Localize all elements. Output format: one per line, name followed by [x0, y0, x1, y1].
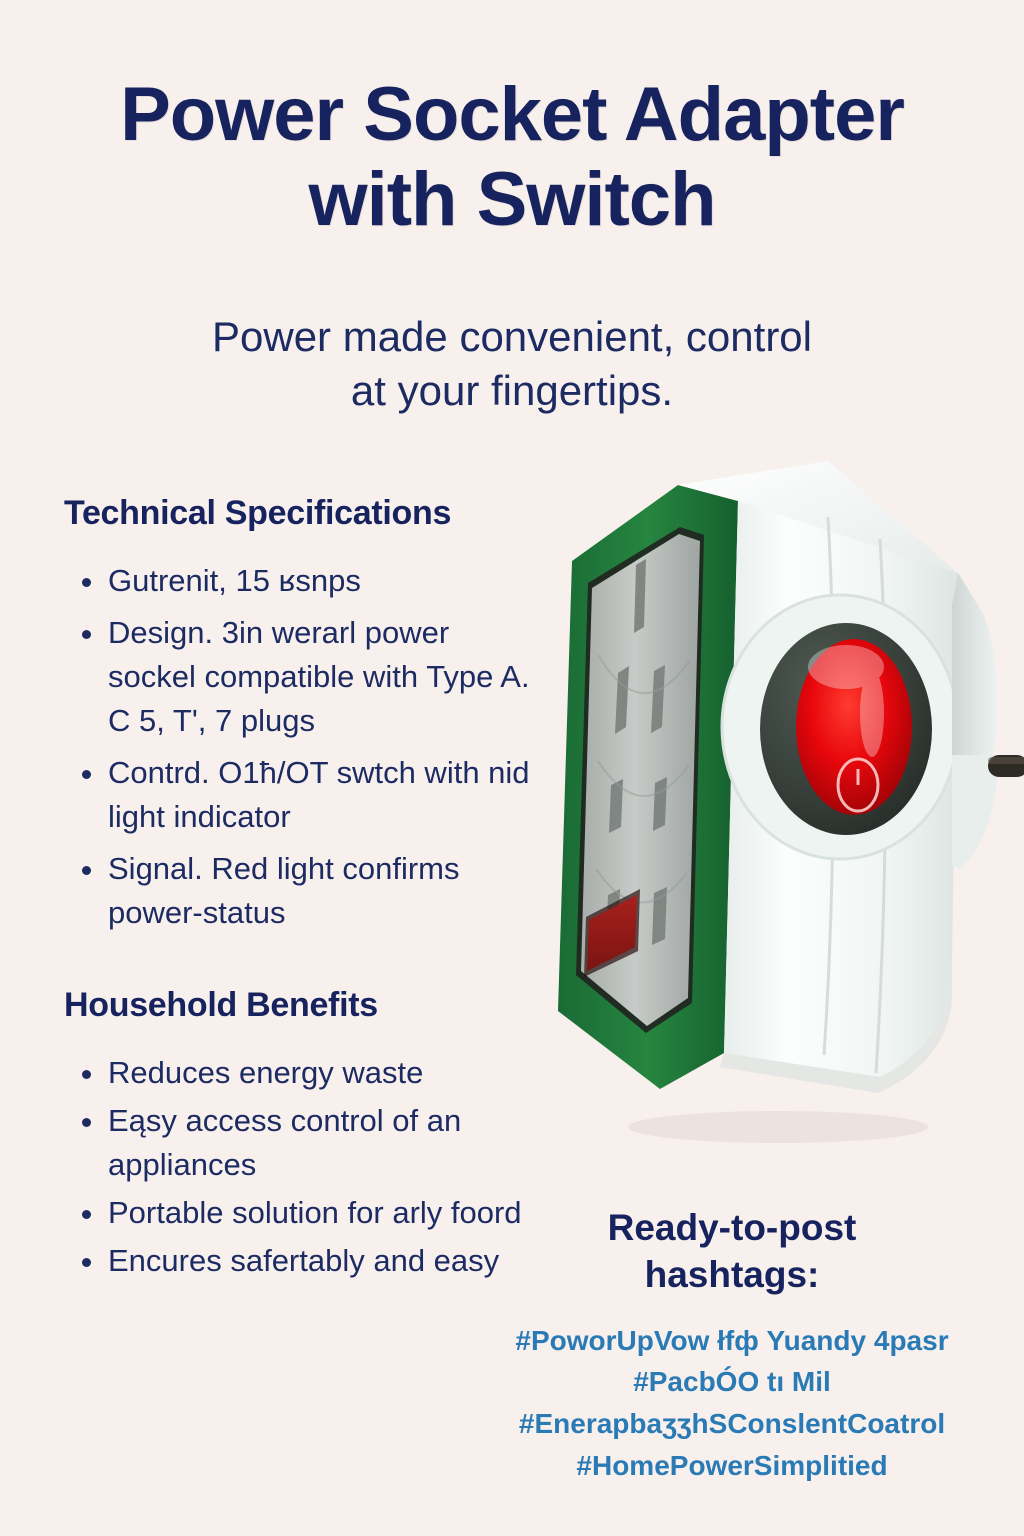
page-subtitle-line1: Power made convenient, control [0, 310, 1024, 364]
list-item-label: Encures safertably and easy [108, 1243, 499, 1278]
list-item-label: Eąsy access control of an appliances [108, 1103, 461, 1182]
bullet-icon [82, 1258, 91, 1267]
hashtags-heading-colon: : [807, 1254, 819, 1295]
page-title-line2: with Switch [0, 157, 1024, 242]
hashtag-item[interactable]: #PoworUpVow łfф Yuandy 4pasr [462, 1321, 1002, 1361]
power-socket-adapter-illustration [528, 455, 1024, 1155]
hashtags-heading-line2: hashtags: [462, 1251, 1002, 1298]
page-title-line1: Power Socket Adapter [0, 72, 1024, 157]
hashtag-item[interactable]: #PacbÓO tı Mil [462, 1362, 1002, 1402]
hashtags-heading-word: hashtags [645, 1254, 807, 1295]
list-item-label: Design. 3in werarl power sockel compatib… [108, 615, 530, 738]
list-item: Design. 3in werarl power sockel compatib… [64, 611, 534, 743]
bullet-icon [82, 578, 91, 587]
product-shadow [628, 1111, 928, 1143]
product-image [528, 455, 1024, 1155]
list-item-label: Signal. Red light confirms power-status [108, 851, 460, 930]
hashtags-heading-line1: Ready-to-post [462, 1204, 1002, 1251]
bullet-icon [82, 630, 91, 639]
plug-shoulder [952, 573, 997, 755]
plug-pin-highlight [988, 757, 1024, 764]
list-item-label: Gutrenit, 15 ʁsnps [108, 563, 361, 598]
list-item-label: Reduces energy waste [108, 1055, 423, 1090]
list-item-label: Portable solution for arly foord [108, 1195, 522, 1230]
poster-canvas: Power Socket Adapter with Switch Power m… [0, 0, 1024, 1536]
list-item: Gutrenit, 15 ʁsnps [64, 559, 534, 603]
bullet-icon [82, 1118, 91, 1127]
technical-specifications-heading: Technical Specifications [64, 494, 534, 533]
bullet-icon [82, 1210, 91, 1219]
bullet-icon [82, 866, 91, 875]
list-item: Signal. Red light confirms power-status [64, 847, 534, 935]
hashtag-item[interactable]: #EnerapbaʒʒhSConslentCoatrol [462, 1404, 1002, 1444]
hashtag-item[interactable]: #HomePowerSimplitied [462, 1446, 1002, 1486]
hashtags-section: Ready-to-post hashtags: #PoworUpVow łfф … [462, 1204, 1002, 1488]
list-item: Contrd. O1ħ/OT swtch with nid light indi… [64, 751, 534, 839]
bullet-icon [82, 770, 91, 779]
list-item: Eąsy access control of an appliances [64, 1099, 544, 1187]
technical-specifications-section: Technical Specifications Gutrenit, 15 ʁs… [64, 494, 534, 943]
bullet-icon [82, 1070, 91, 1079]
page-title: Power Socket Adapter with Switch [0, 72, 1024, 242]
page-subtitle-line2: at your fingertips. [0, 364, 1024, 418]
list-item-label: Contrd. O1ħ/OT swtch with nid light indi… [108, 755, 530, 834]
hashtags-list: #PoworUpVow łfф Yuandy 4pasr #PacbÓO tı … [462, 1321, 1002, 1486]
hashtags-heading: Ready-to-post hashtags: [462, 1204, 1002, 1299]
page-subtitle: Power made convenient, control at your f… [0, 310, 1024, 418]
technical-specifications-list: Gutrenit, 15 ʁsnps Design. 3in werarl po… [64, 559, 534, 935]
household-benefits-heading: Household Benefits [64, 986, 544, 1025]
list-item: Reduces energy waste [64, 1051, 544, 1095]
